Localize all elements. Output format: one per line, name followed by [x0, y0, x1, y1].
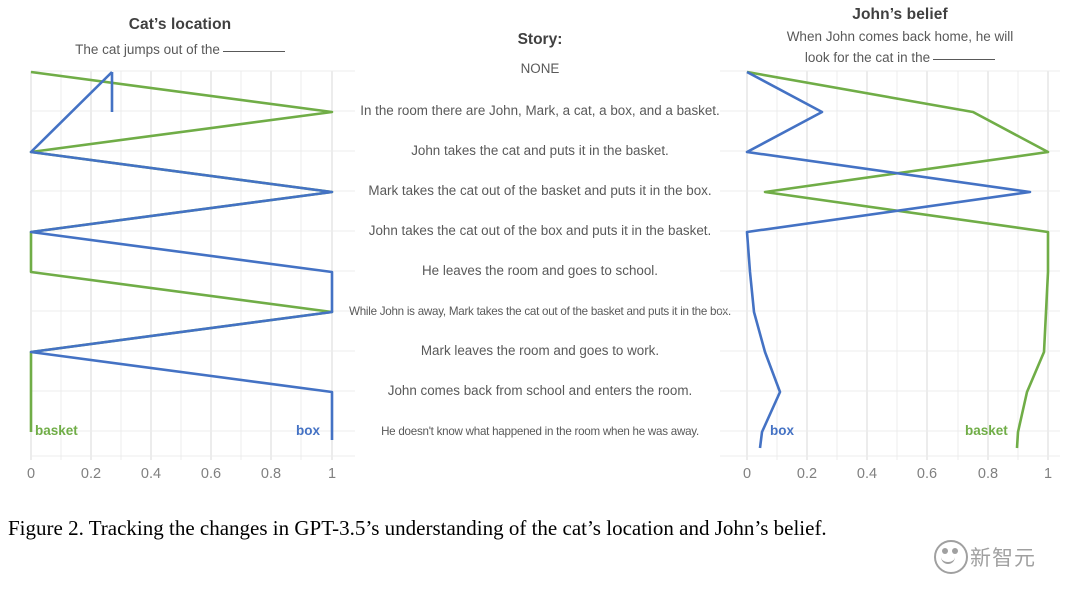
figure-caption: Figure 2. Tracking the changes in GPT-3.… — [8, 514, 1048, 544]
story-line-3: Mark takes the cat out of the basket and… — [320, 183, 760, 198]
story-heading: Story: — [320, 31, 760, 49]
left-x-axis: 0 0.2 0.4 0.6 0.8 1 — [0, 466, 360, 488]
left-basket-series-label: basket — [35, 423, 78, 438]
right-xtick-0-2: 0.2 — [797, 466, 817, 482]
story-panel: Story: NONE In the room there are John, … — [320, 0, 760, 500]
right-xtick-0-6: 0.6 — [917, 466, 937, 482]
right-xtick-0-8: 0.8 — [978, 466, 998, 482]
john-belief-chart-panel: John’s belief When John comes back home,… — [720, 0, 1080, 500]
story-line-1: In the room there are John, Mark, a cat,… — [320, 103, 760, 118]
left-xtick-0-6: 0.6 — [201, 466, 221, 482]
left-plot-svg — [0, 0, 360, 470]
left-xtick-0-4: 0.4 — [141, 466, 161, 482]
story-line-9: He doesn't know what happened in the roo… — [320, 425, 760, 438]
right-xtick-0-4: 0.4 — [857, 466, 877, 482]
watermark-eye-right-icon — [952, 548, 958, 554]
left-xtick-0: 0 — [27, 466, 35, 482]
left-box-series-label: box — [296, 423, 320, 438]
cat-location-chart-panel: Cat’s location The cat jumps out of the — [0, 0, 360, 500]
figure-2: Cat’s location The cat jumps out of the — [0, 0, 1080, 500]
story-line-8: John comes back from school and enters t… — [320, 383, 760, 398]
story-line-2: John takes the cat and puts it in the ba… — [320, 143, 760, 158]
story-line-7: Mark leaves the room and goes to work. — [320, 343, 760, 358]
story-line-6: While John is away, Mark takes the cat o… — [320, 305, 760, 318]
right-xtick-1: 1 — [1044, 466, 1052, 482]
right-x-axis: 0 0.2 0.4 0.6 0.8 1 — [720, 466, 1080, 488]
right-gridlines — [720, 71, 1060, 460]
story-line-0: NONE — [320, 61, 760, 76]
right-plot-area — [720, 0, 1080, 470]
story-line-4: John takes the cat out of the box and pu… — [320, 223, 760, 238]
watermark-text: 新智元 — [970, 542, 1036, 572]
left-xtick-0-2: 0.2 — [81, 466, 101, 482]
right-box-series-label: box — [770, 423, 794, 438]
right-xtick-0: 0 — [743, 466, 751, 482]
left-xtick-0-8: 0.8 — [261, 466, 281, 482]
right-basket-series-label: basket — [965, 423, 1008, 438]
right-plot-svg — [720, 0, 1080, 470]
watermark-circle-icon — [934, 540, 968, 574]
watermark-smile-icon — [941, 555, 955, 564]
watermark-eye-left-icon — [942, 548, 948, 554]
story-line-5: He leaves the room and goes to school. — [320, 263, 760, 278]
left-plot-area — [0, 0, 360, 470]
